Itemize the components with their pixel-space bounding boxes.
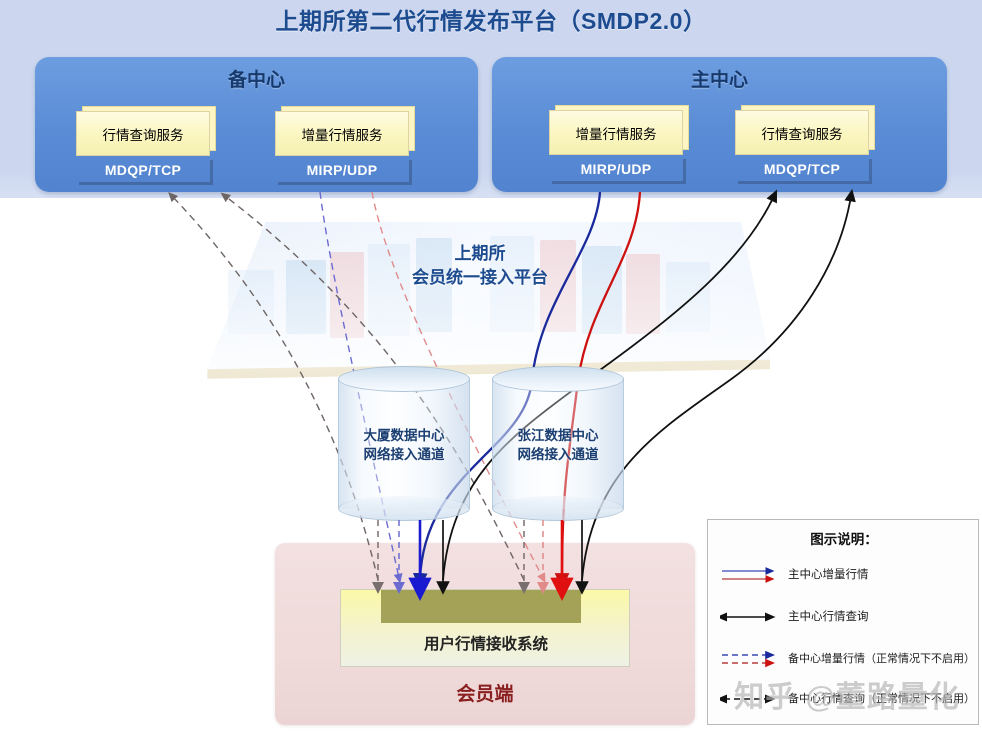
- legend-label: 备中心行情查询（正常情况下不启用）: [788, 686, 975, 712]
- service-protocol: MDQP/TCP: [76, 157, 210, 182]
- cylinder-label: 大厦数据中心 网络接入通道: [338, 426, 470, 464]
- legend-icon-dashed-blue-red-arrow: [720, 646, 782, 672]
- member-zone-label: 会员端: [275, 679, 695, 706]
- cylinder-label-line2: 网络接入通道: [338, 445, 470, 464]
- legend-label: 备中心增量行情（正常情况下不启用）: [788, 646, 975, 672]
- legend-title: 图示说明：: [708, 528, 980, 548]
- legend-icon-dashed-black-double-arrow: [720, 686, 782, 712]
- platform-label: 上期所 会员统一接入平台: [340, 242, 620, 290]
- cylinder-bottom: [338, 496, 470, 521]
- cylinder-label-line1: 张江数据中心: [492, 426, 624, 445]
- legend-panel: 图示说明： 主中心增量行情 主中心行情查询: [707, 519, 979, 725]
- legend-icon-solid-black-double-arrow: [720, 604, 782, 630]
- page-title: 上期所第二代行情发布平台（SMDP2.0）: [0, 4, 982, 38]
- legend-row-main-incremental: 主中心增量行情: [720, 562, 972, 588]
- server-rack-icon: [626, 254, 660, 334]
- receiver-highlight-band: [381, 590, 581, 623]
- cylinder-top: [492, 366, 624, 392]
- service-protocol: MIRP/UDP: [549, 156, 683, 181]
- cylinder-label-line1: 大厦数据中心: [338, 426, 470, 445]
- service-name: 增量行情服务: [549, 110, 683, 155]
- legend-label: 主中心行情查询: [788, 604, 869, 630]
- service-name: 行情查询服务: [76, 111, 210, 156]
- user-quote-receiver-box[interactable]: 用户行情接收系统: [340, 589, 630, 667]
- cylinder-label: 张江数据中心 网络接入通道: [492, 426, 624, 464]
- cylinder-label-line2: 网络接入通道: [492, 445, 624, 464]
- data-center-channel-cylinder-right: 张江数据中心 网络接入通道: [492, 366, 624, 521]
- legend-icon-solid-blue-red-arrow: [720, 562, 782, 588]
- cylinder-top: [338, 366, 470, 392]
- service-name: 增量行情服务: [275, 111, 409, 156]
- legend-label: 主中心增量行情: [788, 562, 869, 588]
- data-center-channel-cylinder-left: 大厦数据中心 网络接入通道: [338, 366, 470, 521]
- service-protocol: MIRP/UDP: [275, 157, 409, 182]
- server-rack-icon: [228, 270, 274, 334]
- receiver-label: 用户行情接收系统: [341, 632, 631, 654]
- server-rack-icon: [666, 262, 710, 332]
- server-rack-icon: [286, 260, 326, 334]
- platform-label-line2: 会员统一接入平台: [340, 266, 620, 290]
- legend-row-backup-query: 备中心行情查询（正常情况下不启用）: [720, 686, 972, 712]
- main-center-title: 主中心: [492, 65, 947, 92]
- service-protocol: MDQP/TCP: [735, 156, 869, 181]
- cylinder-bottom: [492, 496, 624, 521]
- member-client-zone: 用户行情接收系统 会员端: [275, 543, 695, 725]
- access-platform-illustration: 上期所 会员统一接入平台: [190, 222, 770, 382]
- platform-label-line1: 上期所: [340, 242, 620, 266]
- legend-row-main-query: 主中心行情查询: [720, 604, 972, 630]
- backup-center-title: 备中心: [35, 65, 478, 92]
- legend-row-backup-incremental: 备中心增量行情（正常情况下不启用）: [720, 646, 972, 672]
- service-name: 行情查询服务: [735, 110, 869, 155]
